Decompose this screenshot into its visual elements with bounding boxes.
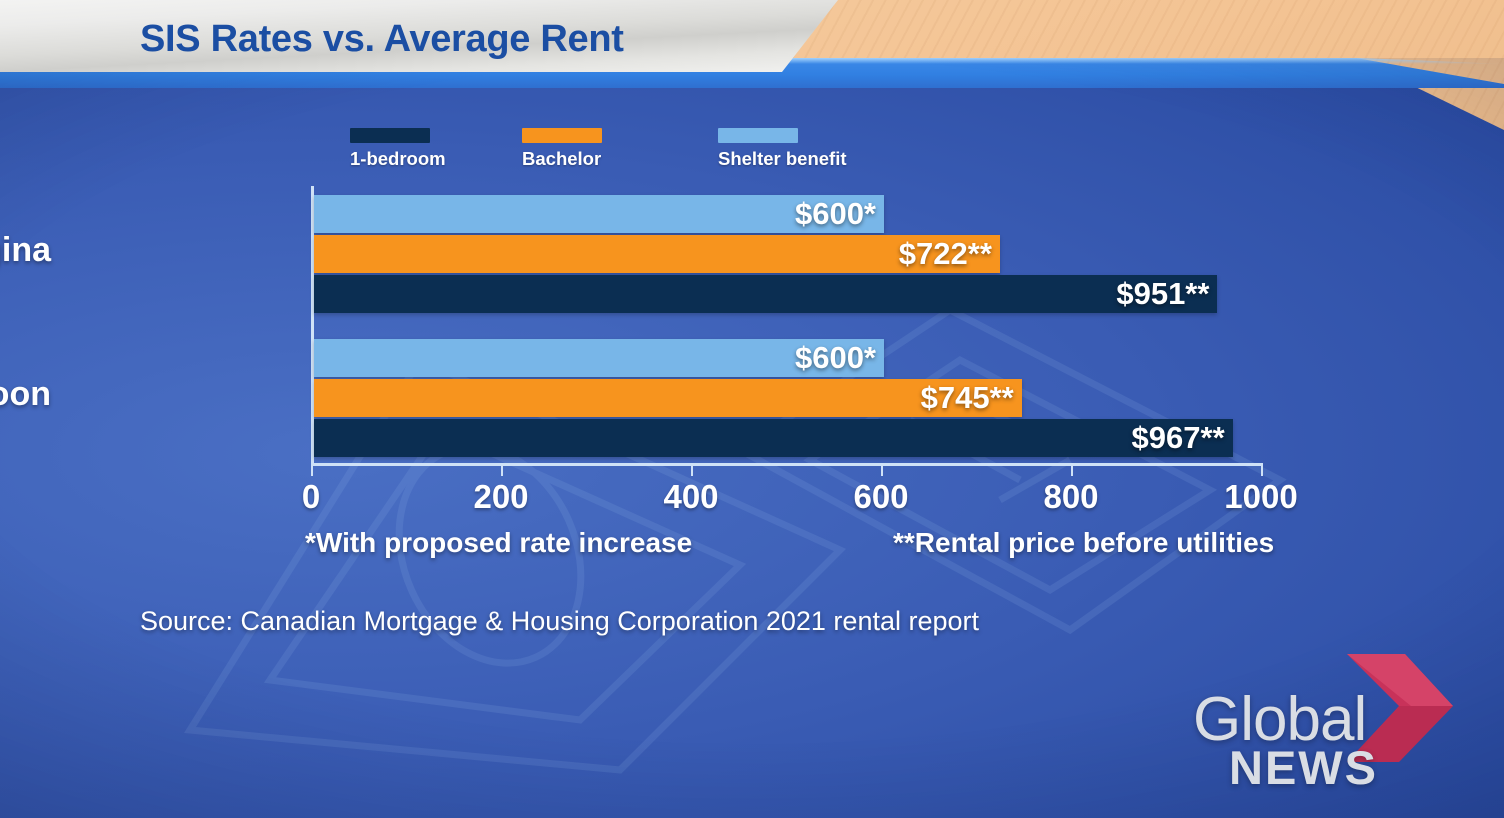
x-axis-tick-label: 800 [1043,478,1098,516]
footnote-right: **Rental price before utilities [893,527,1274,559]
page-title: SIS Rates vs. Average Rent [140,18,624,61]
x-axis-tick-label: 600 [853,478,908,516]
x-axis-tick-label: 400 [663,478,718,516]
bar-saskatoon-shelter-benefit: $600* [314,339,884,377]
broadcast-graphic: SIS Rates vs. Average Rent 1-bedroom Bac… [0,0,1504,818]
logo-word-news: NEWS [1229,740,1378,795]
category-label-regina: Regina [0,231,51,270]
x-axis-tick-label: 1000 [1224,478,1297,516]
legend-item-1-bedroom: 1-bedroom [350,128,522,170]
bar-value-label: $745** [921,380,1022,416]
legend-item-bachelor: Bachelor [522,128,718,170]
bar-value-label: $600* [795,340,884,376]
x-axis-tick [691,463,693,476]
bar-regina-1-bedroom: $951** [314,275,1217,313]
bar-value-label: $951** [1116,276,1217,312]
bar-saskatoon-bachelor: $745** [314,379,1022,417]
legend-swatch-1-bedroom [350,128,430,143]
footnote-left: *With proposed rate increase [305,527,692,559]
chart-plot-area: 02004006008001000 $600*$722**$951**$600*… [311,186,1261,466]
bar-regina-shelter-benefit: $600* [314,195,884,233]
bar-value-label: $722** [899,236,1000,272]
x-axis-tick [311,463,313,476]
chart-legend: 1-bedroom Bachelor Shelter benefit [350,128,918,170]
legend-swatch-shelter-benefit [718,128,798,143]
x-axis-tick [501,463,503,476]
x-axis-tick [881,463,883,476]
global-news-logo: Global NEWS [1193,652,1493,792]
x-axis-line [311,463,1261,466]
x-axis-tick [1261,463,1263,476]
legend-label-shelter-benefit: Shelter benefit [718,148,918,170]
legend-item-shelter-benefit: Shelter benefit [718,128,918,170]
x-axis-tick [1071,463,1073,476]
bar-saskatoon-1-bedroom: $967** [314,419,1233,457]
x-axis-tick-label: 0 [302,478,320,516]
bar-value-label: $967** [1132,420,1233,456]
bar-value-label: $600* [795,196,884,232]
legend-label-1-bedroom: 1-bedroom [350,148,522,170]
legend-swatch-bachelor [522,128,602,143]
source-credit: Source: Canadian Mortgage & Housing Corp… [140,606,979,637]
bar-regina-bachelor: $722** [314,235,1000,273]
legend-label-bachelor: Bachelor [522,148,718,170]
category-label-saskatoon: Saskatoon [0,375,51,414]
x-axis-tick-label: 200 [473,478,528,516]
